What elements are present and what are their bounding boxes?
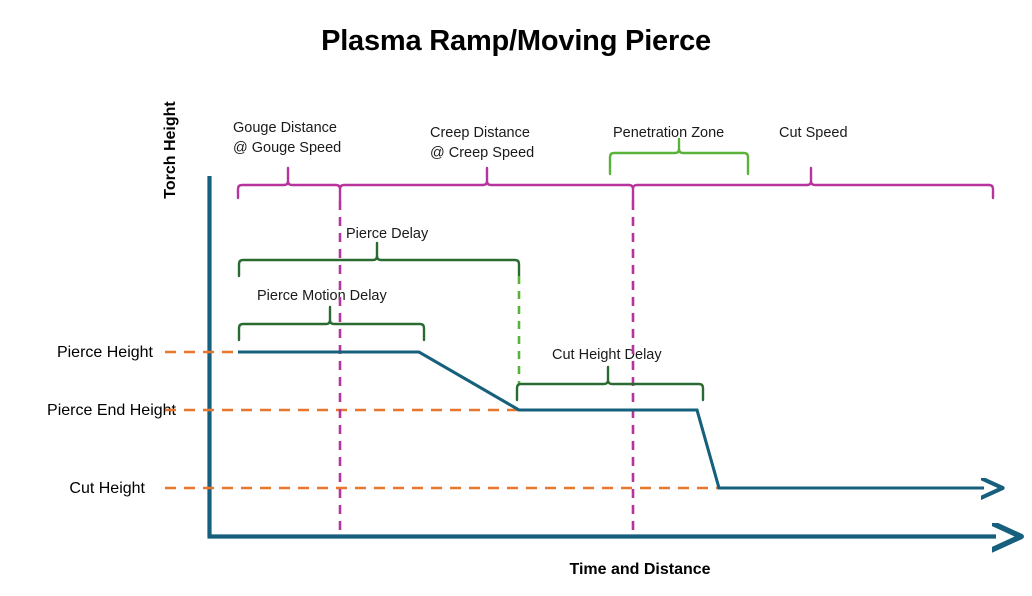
ruler-tick-cut-speed <box>807 168 989 185</box>
cut-height-delay-bracket-path <box>517 367 703 400</box>
pierce-delay-bracket <box>239 243 519 276</box>
pierce-motion-delay-bracket-path <box>239 307 424 340</box>
ruler-divider-creep-cut <box>629 185 807 201</box>
axes-group <box>208 176 997 538</box>
pierce-motion-delay-bracket <box>239 307 424 340</box>
ruler-left-end <box>238 185 284 198</box>
ruler-tick-gouge <box>284 168 336 185</box>
torch-height-profile <box>238 352 984 488</box>
cut-height-delay-bracket <box>517 367 703 400</box>
diagram-canvas <box>0 0 1032 596</box>
level-guide-lines <box>165 352 719 488</box>
zone-boundary-markers <box>340 201 633 537</box>
pierce-delay-bracket-path <box>239 243 519 276</box>
ruler-right-end <box>989 185 993 198</box>
ruler-tick-creep <box>483 168 629 185</box>
ruler-divider-gouge-creep <box>336 185 483 201</box>
penetration-zone-bracket <box>610 139 748 174</box>
torch-height-profile-path <box>238 352 984 488</box>
plasma-ramp-diagram: Plasma Ramp/Moving Pierce Torch Height T… <box>0 0 1032 596</box>
speed-zone-ruler <box>238 168 993 201</box>
penetration-zone-bracket-path <box>610 139 748 174</box>
